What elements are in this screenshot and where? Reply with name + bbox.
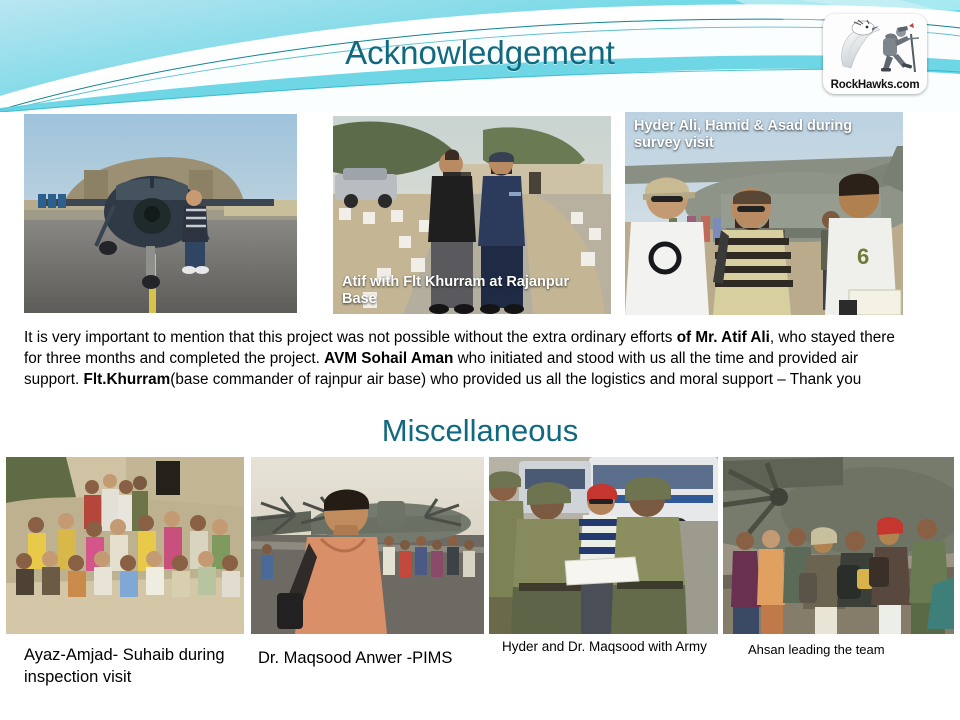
presentation-slide: Acknowledgement Miscellaneous [0, 0, 960, 720]
photo-inspection-visit [6, 457, 244, 634]
photo-caption-atif-khurram: Atif with Flt Khurram at Rajanpur Base [342, 274, 603, 308]
photo-aircraft-rajanpur-image [24, 114, 297, 313]
photo-maqsood-pims-image [251, 457, 484, 634]
photo-caption-hyder-army: Hyder and Dr. Maqsood with Army [502, 638, 717, 656]
body-segment-1: of Mr. Atif Ali [677, 329, 770, 346]
photo-survey-visit: 6 Hyder Ali, Hamid & Asad during survey … [625, 112, 903, 315]
photo-maqsood-pims [251, 457, 484, 634]
photo-caption-inspection-visit: Ayaz-Amjad- Suhaib during inspection vis… [24, 645, 239, 689]
photo-ahsan-team-image [723, 457, 954, 634]
photo-atif-khurram: Atif with Flt Khurram at Rajanpur Base [333, 116, 611, 314]
photo-aircraft-rajanpur [24, 114, 297, 313]
page-title-acknowledgement: Acknowledgement [0, 36, 960, 69]
hawk-hiker-icon [823, 14, 927, 76]
body-segment-6: (base commander of rajnpur air base) who… [170, 371, 861, 388]
svg-text:6: 6 [857, 244, 869, 269]
body-segment-3: AVM Sohail Aman [324, 350, 453, 367]
rockhawks-logo[interactable]: RockHawks.com [823, 14, 927, 94]
acknowledgement-body-text: It is very important to mention that thi… [24, 327, 914, 390]
photo-hyder-army-image [489, 457, 718, 634]
body-segment-0: It is very important to mention that thi… [24, 329, 677, 346]
photo-hyder-army [489, 457, 718, 634]
body-segment-5: Flt.Khurram [84, 371, 171, 388]
logo-wordmark: RockHawks.com [823, 79, 927, 91]
photo-ahsan-team [723, 457, 954, 634]
photo-inspection-visit-image [6, 457, 244, 634]
photo-caption-survey-visit: Hyder Ali, Hamid & Asad during survey vi… [634, 118, 895, 152]
photo-caption-maqsood-pims: Dr. Maqsood Anwer -PIMS [258, 648, 488, 670]
photo-caption-ahsan-team: Ahsan leading the team [748, 642, 953, 659]
section-title-miscellaneous: Miscellaneous [0, 415, 960, 446]
